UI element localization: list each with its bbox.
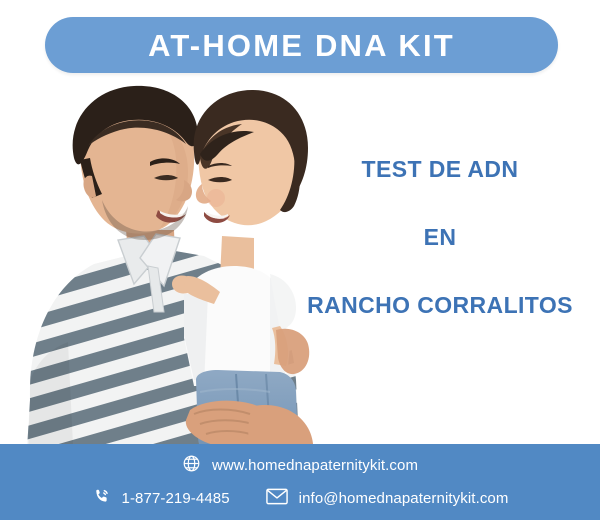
headline-line-1: TEST DE ADN bbox=[290, 158, 590, 181]
email-contact-item[interactable]: info@homednapaternitykit.com bbox=[266, 488, 509, 510]
headline-line-3: RANCHO CORRALITOS bbox=[290, 294, 590, 317]
phone-icon bbox=[92, 487, 111, 511]
photo-illustration bbox=[8, 80, 338, 465]
phone-contact-item[interactable]: 1-877-219-4485 bbox=[92, 487, 230, 511]
footer-row-phone-email: 1-877-219-4485 info@homednapaternitykit.… bbox=[92, 487, 509, 511]
email-text: info@homednapaternitykit.com bbox=[299, 491, 509, 506]
phone-text: 1-877-219-4485 bbox=[122, 491, 230, 506]
headline-line-2: EN bbox=[290, 226, 590, 249]
father-and-child-photo bbox=[8, 80, 338, 465]
poster-canvas: AT-HOME DNA KIT bbox=[0, 0, 600, 520]
header-title: AT-HOME DNA KIT bbox=[148, 30, 455, 61]
headline-block: TEST DE ADN EN RANCHO CORRALITOS bbox=[290, 158, 590, 317]
website-contact-item[interactable]: www.homednapaternitykit.com bbox=[182, 454, 418, 478]
envelope-icon bbox=[266, 488, 288, 510]
header-banner: AT-HOME DNA KIT bbox=[45, 17, 558, 73]
footer-row-website: www.homednapaternitykit.com bbox=[182, 454, 418, 478]
website-text: www.homednapaternitykit.com bbox=[212, 458, 418, 473]
globe-icon bbox=[182, 454, 201, 478]
